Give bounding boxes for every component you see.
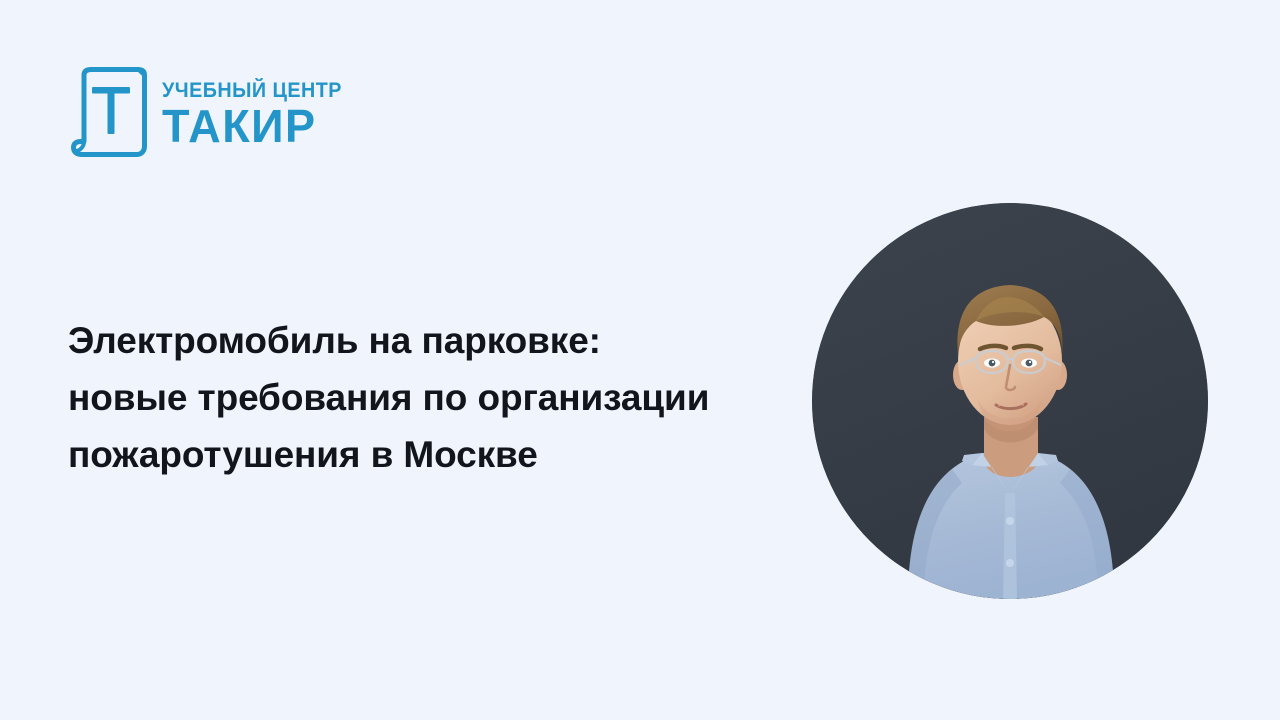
slide-root: УЧЕБНЫЙ ЦЕНТР ТАКИР Электромобиль на пар… xyxy=(0,0,1280,720)
logo-subtitle: УЧЕБНЫЙ ЦЕНТР xyxy=(162,80,342,101)
headline-line-1: Электромобиль на парковке: xyxy=(68,312,818,369)
headline: Электромобиль на парковке: новые требова… xyxy=(68,312,818,483)
brand-logo[interactable]: УЧЕБНЫЙ ЦЕНТР ТАКИР xyxy=(70,66,353,160)
speaker-portrait-image xyxy=(812,203,1208,599)
logo-wordmark: УЧЕБНЫЙ ЦЕНТР ТАКИР xyxy=(162,66,353,150)
book-t-icon xyxy=(70,66,148,160)
logo-title: ТАКИР xyxy=(162,103,350,150)
speaker-portrait xyxy=(812,203,1208,599)
headline-line-3: пожаротушения в Москве xyxy=(68,426,818,483)
headline-line-2: новые требования по организации xyxy=(68,369,818,426)
